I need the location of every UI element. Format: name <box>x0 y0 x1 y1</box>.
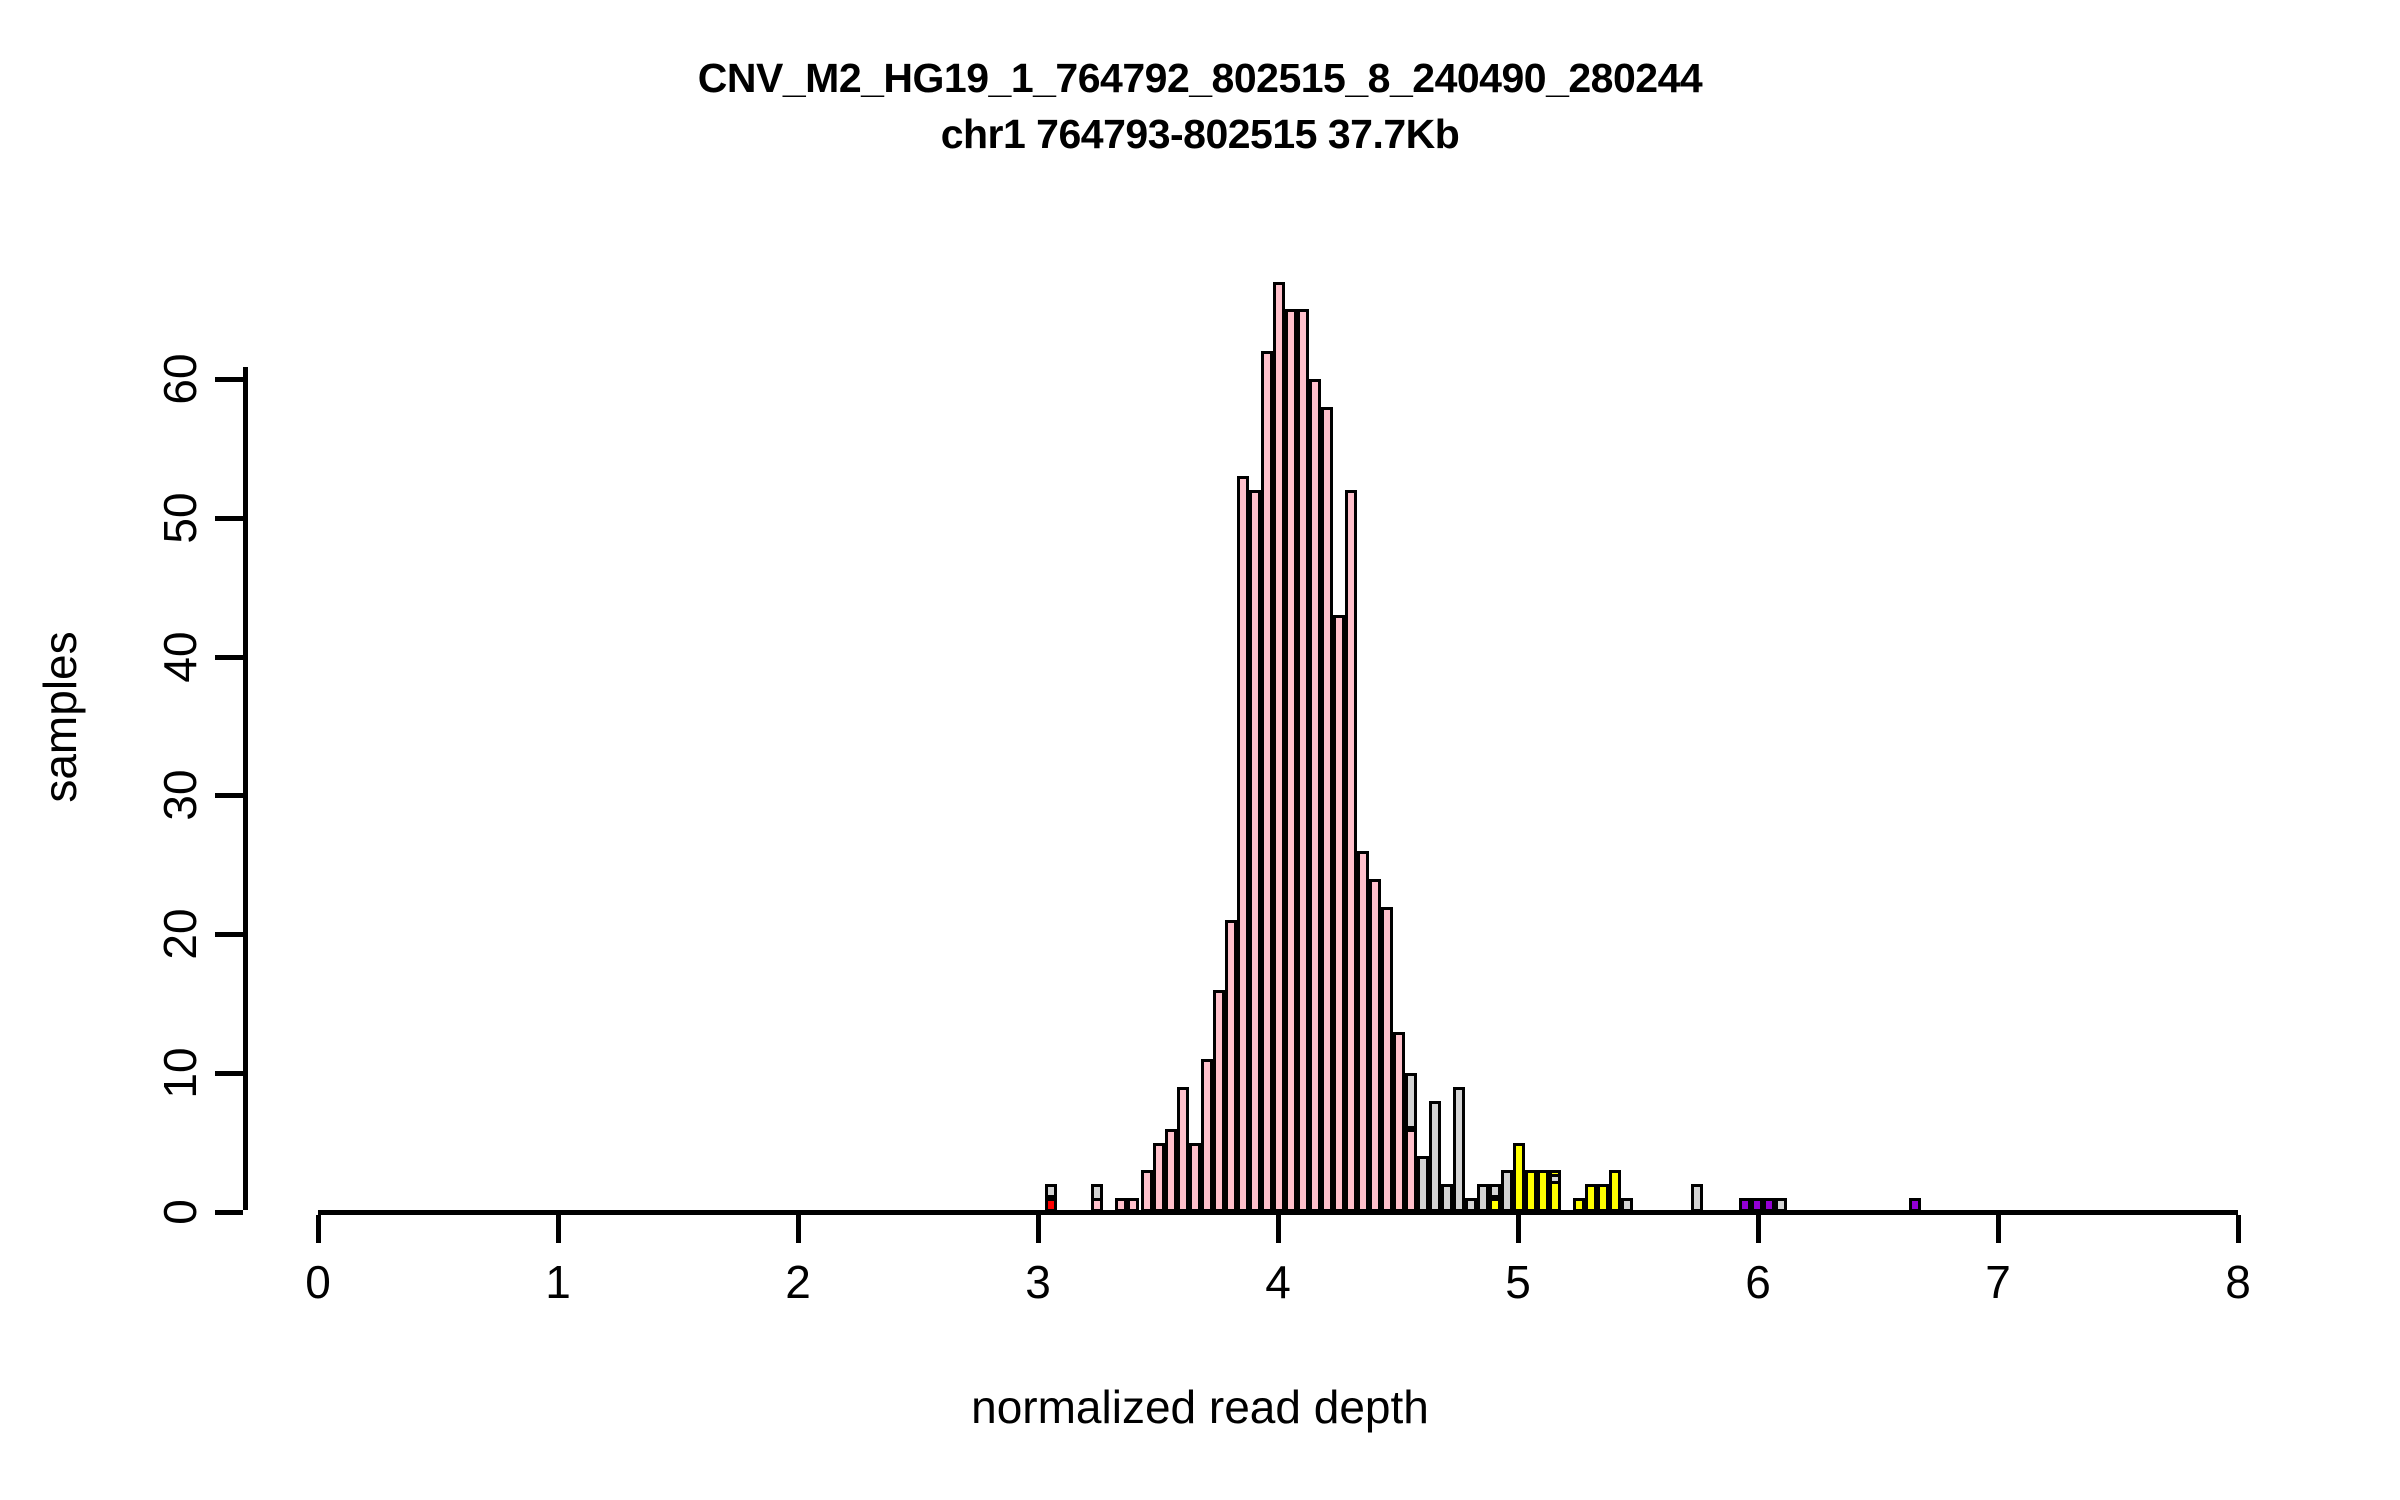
histogram-bar <box>1585 1184 1597 1212</box>
histogram-bar <box>1489 1184 1501 1198</box>
histogram-bar <box>1441 1184 1453 1212</box>
histogram-bar <box>1691 1184 1703 1212</box>
histogram-bar <box>1369 879 1381 1212</box>
x-tick-label: 1 <box>498 1255 618 1309</box>
x-tick <box>1756 1215 1761 1243</box>
histogram-bar <box>1321 407 1333 1212</box>
y-tick-label: 0 <box>153 1182 207 1242</box>
y-tick <box>215 793 243 798</box>
x-tick-label: 6 <box>1698 1255 1818 1309</box>
x-tick <box>2236 1215 2241 1243</box>
histogram-bar <box>1141 1170 1153 1212</box>
histogram-bar <box>1237 476 1249 1212</box>
x-tick <box>1276 1215 1281 1243</box>
histogram-bars <box>0 0 2400 1212</box>
histogram-bar <box>1045 1184 1057 1198</box>
x-tick-label: 5 <box>1458 1255 1578 1309</box>
histogram-bar <box>1501 1170 1513 1212</box>
y-tick <box>215 932 243 937</box>
x-tick <box>1516 1215 1521 1243</box>
x-tick-label: 0 <box>258 1255 378 1309</box>
y-tick <box>215 1071 243 1076</box>
y-tick-label: 40 <box>153 627 207 687</box>
histogram-bar <box>1525 1170 1537 1212</box>
x-tick <box>316 1215 321 1243</box>
histogram-bar <box>1381 907 1393 1212</box>
x-tick <box>556 1215 561 1243</box>
histogram-bar <box>1153 1143 1165 1212</box>
x-tick <box>1996 1215 2001 1243</box>
histogram-bar <box>1345 490 1357 1212</box>
y-tick-label: 30 <box>153 765 207 825</box>
y-axis-line <box>243 367 248 1210</box>
x-tick-label: 3 <box>978 1255 1098 1309</box>
histogram-bar <box>1405 1129 1417 1212</box>
histogram-bar <box>1261 351 1273 1212</box>
histogram-bar <box>1273 282 1285 1212</box>
histogram-bar <box>1297 309 1309 1212</box>
histogram-bar <box>1189 1143 1201 1212</box>
histogram-bar <box>1213 990 1225 1212</box>
x-tick-label: 2 <box>738 1255 858 1309</box>
histogram-bar <box>1201 1059 1213 1212</box>
histogram-bar <box>1513 1143 1525 1212</box>
chart-page: CNV_M2_HG19_1_764792_802515_8_240490_280… <box>0 0 2400 1500</box>
x-tick-label: 7 <box>1938 1255 2058 1309</box>
histogram-bar <box>1225 920 1237 1212</box>
histogram-bar <box>1249 490 1261 1212</box>
histogram-bar <box>1309 379 1321 1212</box>
histogram-bar <box>1333 615 1345 1212</box>
y-tick <box>215 516 243 521</box>
y-tick-label: 20 <box>153 904 207 964</box>
histogram-bar <box>1357 851 1369 1212</box>
x-tick-label: 4 <box>1218 1255 1338 1309</box>
histogram-bar <box>1549 1174 1561 1184</box>
histogram-bar <box>1405 1073 1417 1129</box>
y-tick-label: 10 <box>153 1043 207 1103</box>
histogram-bar <box>1429 1101 1441 1212</box>
y-tick <box>215 655 243 660</box>
y-tick <box>215 1210 243 1215</box>
x-tick <box>1036 1215 1041 1243</box>
histogram-bar <box>1417 1156 1429 1212</box>
x-tick-label: 8 <box>2178 1255 2298 1309</box>
y-tick <box>215 377 243 382</box>
x-tick <box>796 1215 801 1243</box>
histogram-bar <box>1453 1087 1465 1212</box>
histogram-bar <box>1609 1170 1621 1212</box>
x-axis-label: normalized read depth <box>0 1380 2400 1434</box>
histogram-bar <box>1537 1170 1549 1212</box>
y-tick-label: 50 <box>153 488 207 548</box>
histogram-bar <box>1177 1087 1189 1212</box>
histogram-bar <box>1393 1032 1405 1213</box>
histogram-bar <box>1165 1129 1177 1212</box>
histogram-bar <box>1597 1184 1609 1212</box>
histogram-bar <box>1285 309 1297 1212</box>
histogram-bar <box>1477 1184 1489 1212</box>
y-tick-label: 60 <box>153 349 207 409</box>
